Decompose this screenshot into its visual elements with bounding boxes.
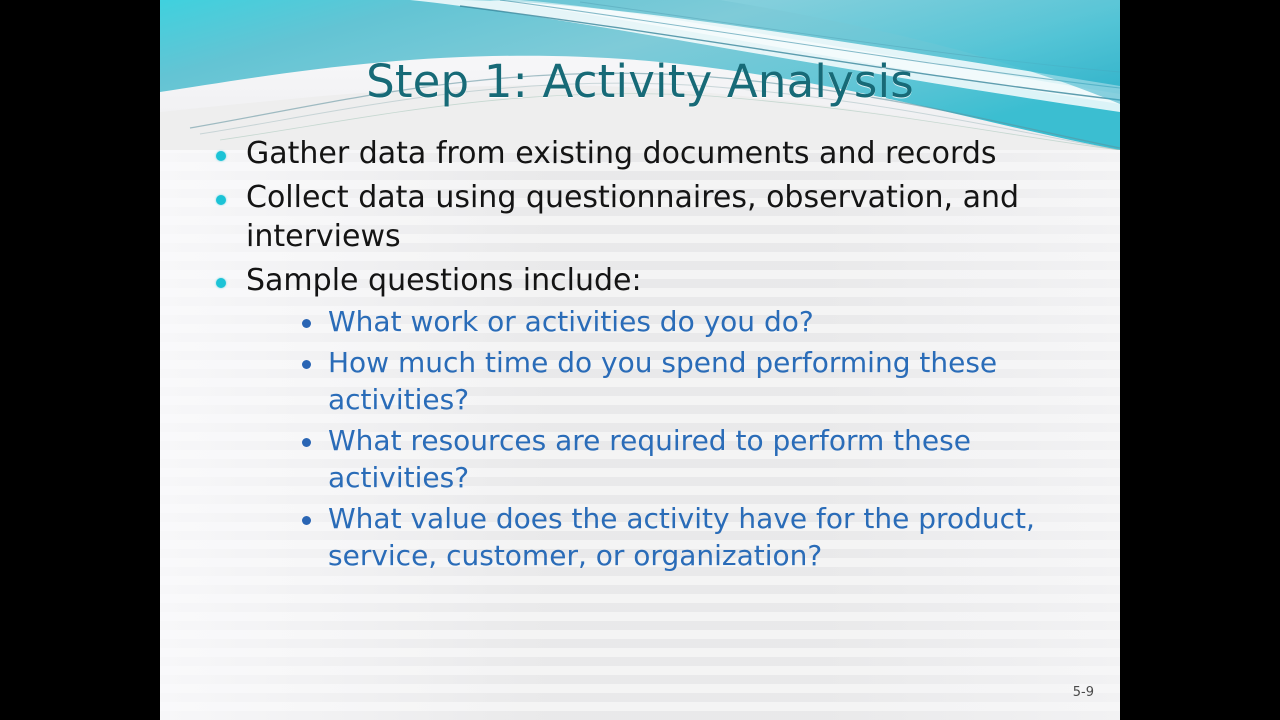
slide-canvas: Step 1: Activity Analysis Gather data fr… [160, 0, 1120, 720]
slide-page-number: 5-9 [1073, 685, 1094, 700]
presentation-viewer: Step 1: Activity Analysis Gather data fr… [0, 0, 1280, 720]
letterbox-bar-right [1120, 0, 1280, 720]
letterbox-bar-left [0, 0, 160, 720]
bullet-dot-icon [302, 438, 311, 447]
bullet-item-level2: What resources are required to perform t… [286, 423, 1088, 497]
bullet-item-level1: Gather data from existing documents and … [202, 134, 1088, 174]
bullet-item-level2: What work or activities do you do? [286, 304, 1088, 341]
slide-body: Gather data from existing documents and … [202, 134, 1088, 579]
sub-bullet-container: What work or activities do you do? How m… [246, 304, 1088, 575]
bullet-item-level1: Collect data using questionnaires, obser… [202, 178, 1088, 257]
bullet-text: What work or activities do you do? [328, 305, 814, 338]
slide-title: Step 1: Activity Analysis [160, 58, 1120, 105]
bullet-text: Sample questions include: [246, 263, 642, 298]
bullet-text: What value does the activity have for th… [328, 502, 1035, 572]
bullet-dot-icon [302, 319, 311, 328]
bullet-item-level2: How much time do you spend performing th… [286, 345, 1088, 419]
bullet-dot-icon [302, 360, 311, 369]
bullet-list-level1: Gather data from existing documents and … [202, 134, 1088, 575]
bullet-item-level2: What value does the activity have for th… [286, 501, 1088, 575]
bullet-text: How much time do you spend performing th… [328, 346, 997, 416]
bullet-item-level1: Sample questions include: What work or a… [202, 261, 1088, 575]
bullet-dot-icon [302, 516, 311, 525]
bullet-dot-icon [216, 278, 226, 288]
bullet-dot-icon [216, 195, 226, 205]
bullet-text: What resources are required to perform t… [328, 424, 971, 494]
bullet-list-level2: What work or activities do you do? How m… [286, 304, 1088, 575]
bullet-text: Gather data from existing documents and … [246, 136, 997, 171]
bullet-text: Collect data using questionnaires, obser… [246, 180, 1019, 255]
bullet-dot-icon [216, 151, 226, 161]
